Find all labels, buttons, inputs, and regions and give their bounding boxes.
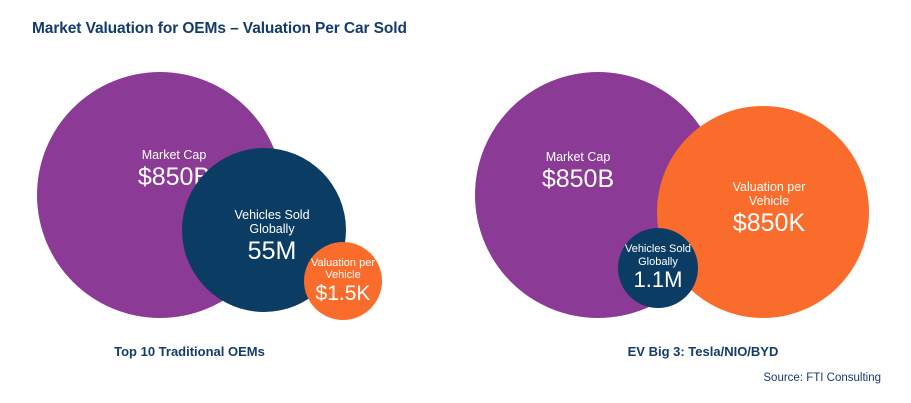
bubble-text-group: Vehicles Sold Globally 1.1M: [625, 243, 691, 292]
source-note: Source: FTI Consulting: [763, 372, 881, 384]
bubble-value: 55M: [234, 237, 309, 265]
bubble-vehicles-sold-ev: Vehicles Sold Globally 1.1M: [618, 228, 698, 308]
bubble-text-group: Vehicles Sold Globally 55M: [234, 208, 309, 265]
bubble-value: $850K: [733, 209, 806, 237]
bubble-cluster-traditional-oems: Market Cap $850B Vehicles Sold Globally …: [0, 0, 455, 330]
bubble-text-group: Valuation per Vehicle $850K: [733, 180, 806, 237]
bubble-label: Valuation per Vehicle: [311, 257, 375, 282]
bubble-valuation-per-vehicle-traditional: Valuation per Vehicle $1.5K: [304, 242, 382, 320]
infographic-canvas: Market Valuation for OEMs – Valuation Pe…: [0, 0, 911, 403]
bubble-cluster-ev-big-3: Market Cap $850B Valuation per Vehicle $…: [455, 0, 911, 330]
bubble-label: Vehicles Sold Globally: [234, 208, 309, 236]
bubble-text-group: Market Cap $850B: [542, 150, 614, 193]
bubble-value: 1.1M: [625, 268, 691, 293]
bubble-value: $850B: [542, 165, 614, 193]
bubble-label: Vehicles Sold Globally: [625, 243, 691, 268]
bubble-text-group: Valuation per Vehicle $1.5K: [311, 257, 375, 305]
cluster-caption-ev-big-3: EV Big 3: Tesla/NIO/BYD: [475, 344, 911, 359]
bubble-label: Valuation per Vehicle: [733, 180, 806, 208]
bubble-label: Market Cap: [138, 148, 210, 162]
cluster-caption-traditional-oems: Top 10 Traditional OEMs: [0, 344, 417, 359]
bubble-value: $1.5K: [311, 282, 375, 306]
bubble-label: Market Cap: [542, 150, 614, 164]
